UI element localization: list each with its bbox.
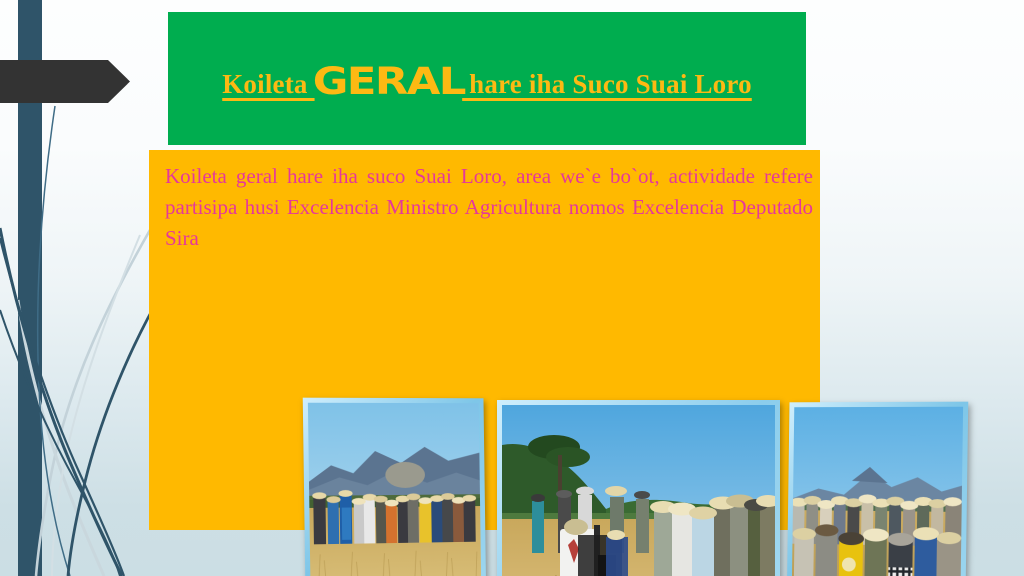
photo-left[interactable] — [303, 398, 487, 576]
content-panel: Koileta geral hare iha suco Suai Loro, a… — [149, 150, 820, 530]
arrow-banner-shape — [0, 60, 130, 103]
photo-center-image — [502, 405, 775, 576]
title-emphasis-word: GERAL — [310, 63, 466, 101]
left-decoration-band — [0, 0, 160, 576]
slide-title: Koileta GERAL hare iha Suco Suai Loro — [222, 55, 752, 102]
slide-title-bar: Koileta GERAL hare iha Suco Suai Loro — [168, 12, 806, 145]
photo-right-image — [791, 407, 963, 576]
title-part-before: Koileta — [222, 69, 314, 99]
photo-center[interactable] — [497, 400, 780, 576]
body-paragraph: Koileta geral hare iha suco Suai Loro, a… — [165, 161, 813, 285]
title-part-after: hare iha Suco Suai Loro — [462, 69, 752, 99]
photo-left-image — [308, 403, 482, 576]
photo-right[interactable] — [786, 402, 968, 576]
presentation-slide: Koileta GERAL hare iha Suco Suai Loro Ko… — [0, 0, 1024, 576]
